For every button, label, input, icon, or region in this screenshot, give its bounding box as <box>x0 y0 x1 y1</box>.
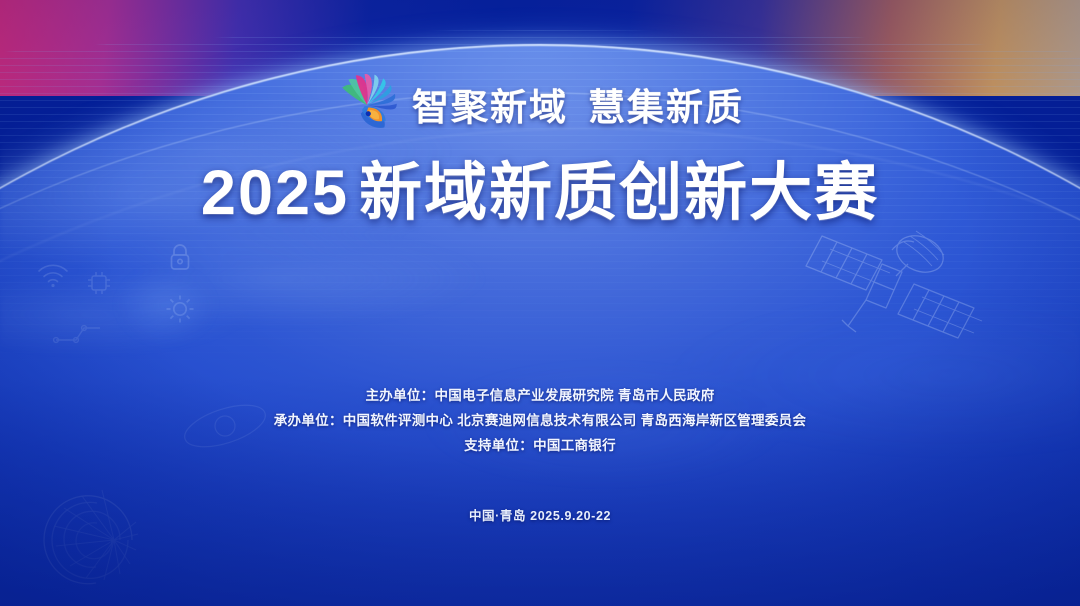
event-poster: 智聚新域慧集新质 2025新域新质创新大赛 主办单位：中国电子信息产业发展研究院… <box>0 0 1080 606</box>
organizer-line-host: 主办单位：中国电子信息产业发展研究院 青岛市人民政府 <box>274 383 807 408</box>
organizer-line-supporter: 支持单位：中国工商银行 <box>274 433 807 458</box>
title-year: 2025 <box>201 158 349 228</box>
slogan-row: 智聚新域慧集新质 <box>336 72 744 136</box>
place-and-date: 中国·青岛 2025.9.20-22 <box>469 505 611 524</box>
slogan-text: 智聚新域慧集新质 <box>412 77 744 131</box>
slogan-right: 慧集新质 <box>588 87 744 128</box>
page-title: 2025新域新质创新大赛 <box>201 142 879 233</box>
poster-content: 智聚新域慧集新质 2025新域新质创新大赛 主办单位：中国电子信息产业发展研究院… <box>0 0 1080 606</box>
organizers-block: 主办单位：中国电子信息产业发展研究院 青岛市人民政府 承办单位：中国软件评测中心… <box>274 383 807 458</box>
slogan-left: 智聚新域 <box>412 87 568 128</box>
organizer-line-organizer: 承办单位：中国软件评测中心 北京赛迪网信息技术有限公司 青岛西海岸新区管理委员会 <box>274 408 807 433</box>
spiral-petal-logo-icon <box>336 74 398 136</box>
title-main: 新域新质创新大赛 <box>359 158 879 228</box>
